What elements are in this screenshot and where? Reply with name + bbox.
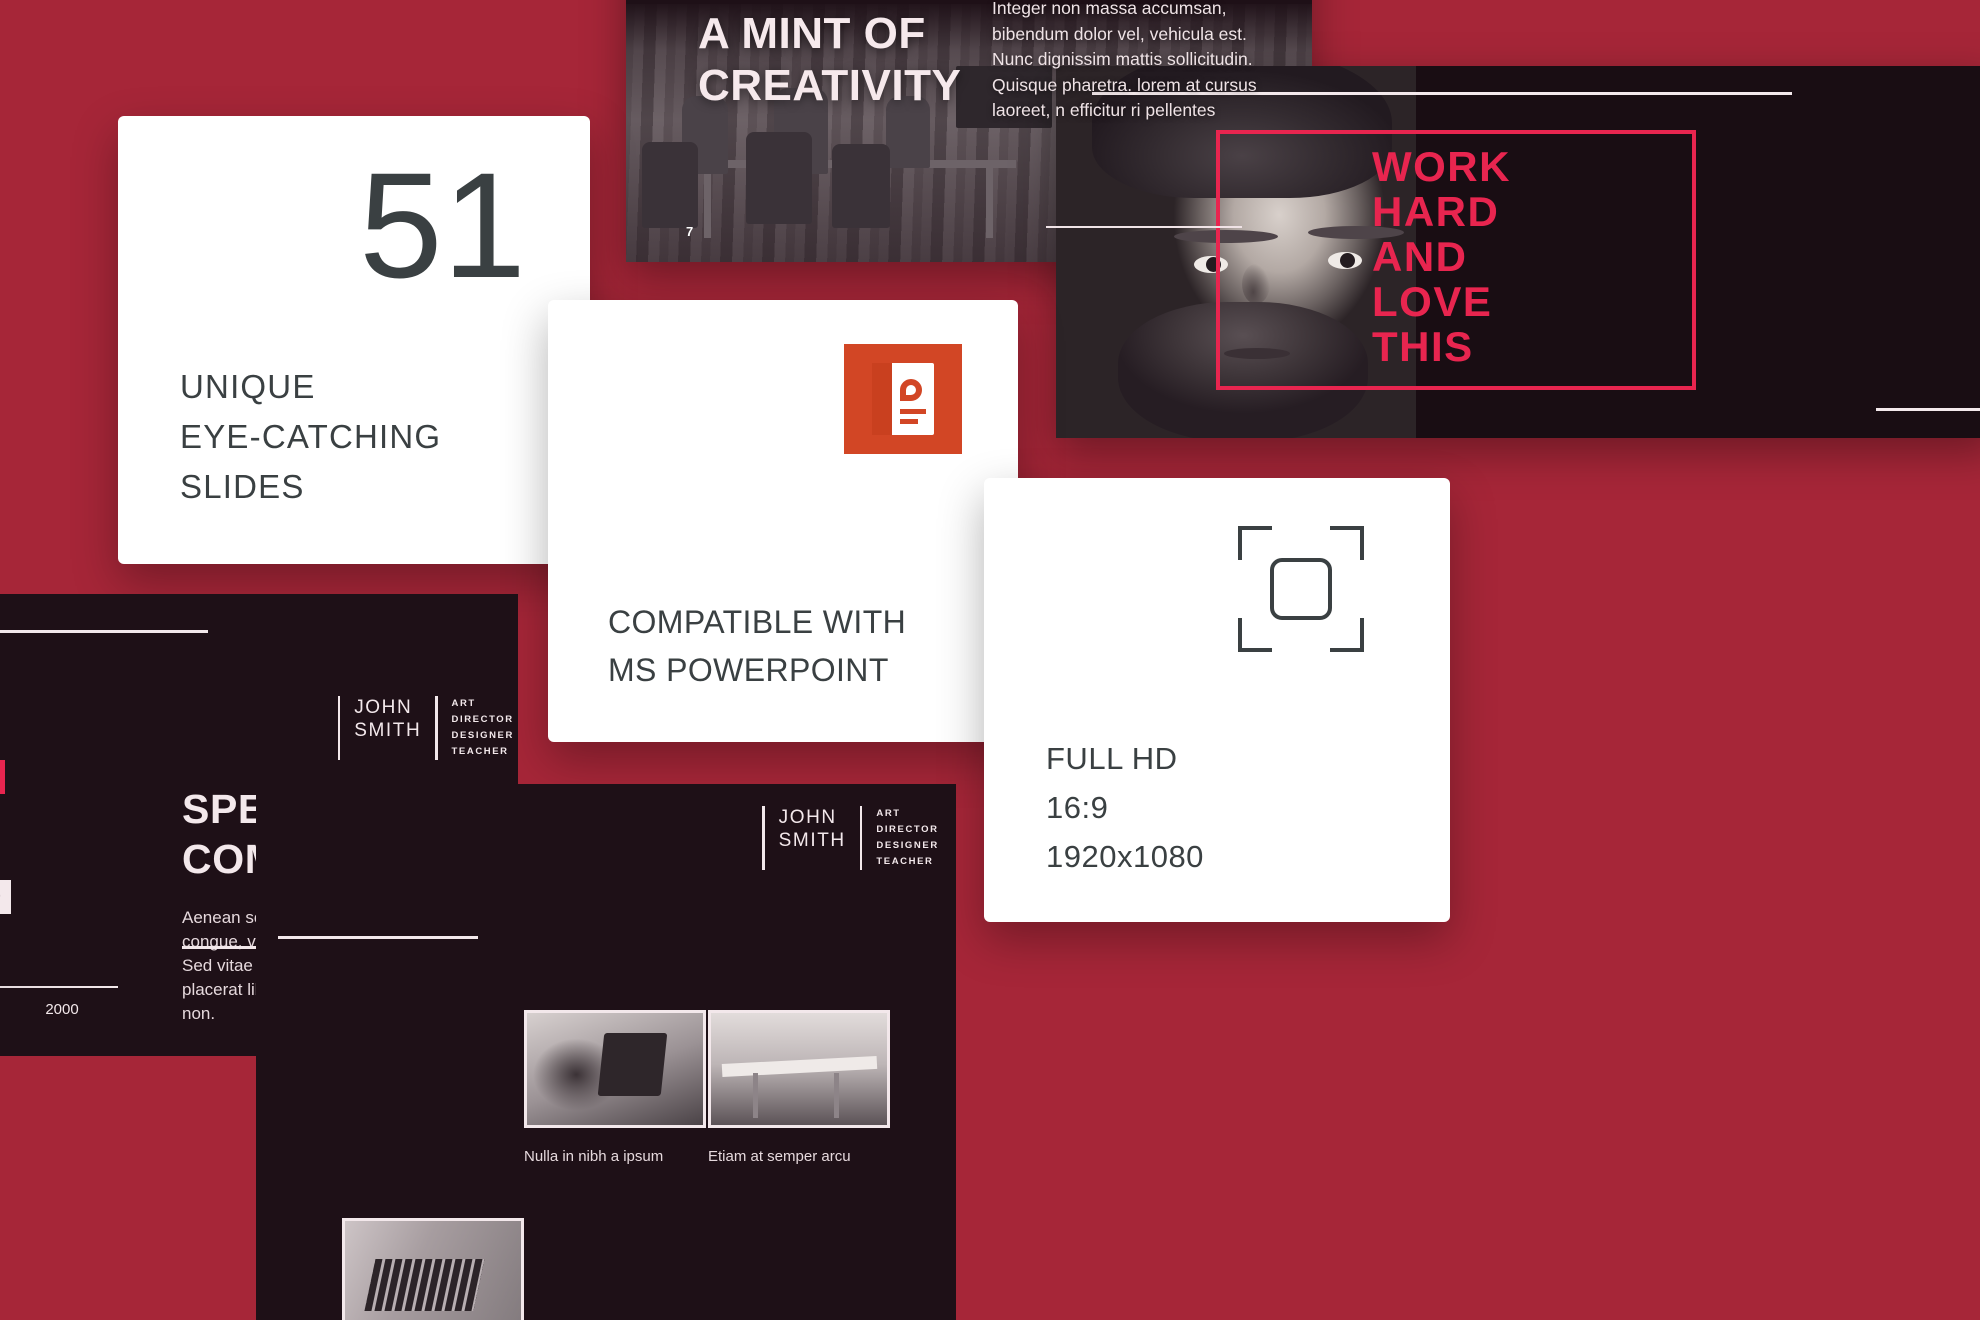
slides-count-caption: UNIQUE EYE-CATCHING SLIDES bbox=[180, 362, 441, 512]
mint-divider bbox=[1046, 226, 1242, 228]
mint-body-text: Integer non massa accumsan, bibendum dol… bbox=[992, 0, 1292, 124]
chart-bar: 800 bbox=[0, 760, 5, 794]
byline-john-smith: JOHN SMITH ART DIRECTOR DESIGNER TEACHER bbox=[338, 696, 518, 760]
work-headline: WORK HARD AND LOVE THIS bbox=[1372, 144, 1511, 369]
slides-count-number: 51 bbox=[359, 140, 526, 310]
byline-name-grid: JOHN SMITH bbox=[779, 806, 846, 870]
powerpoint-caption: COMPATIBLE WITH MS POWERPOINT bbox=[608, 598, 906, 694]
grid-caption-3: Etiam at semper arcu bbox=[708, 1146, 890, 1167]
full-hd-caption: FULL HD 16:9 1920x1080 bbox=[1046, 734, 1204, 881]
work-right-rule bbox=[1876, 408, 1980, 411]
mint-page-number: 7 bbox=[686, 224, 693, 239]
byline-john-smith-grid: JOHN SMITH ART DIRECTOR DESIGNER TEACHER bbox=[762, 806, 956, 870]
slide-full-hd[interactable]: FULL HD 16:9 1920x1080 bbox=[984, 478, 1450, 922]
chart-x-axis bbox=[0, 986, 118, 988]
chart-bar: 800 bbox=[0, 880, 11, 914]
crop-frame-icon bbox=[1238, 526, 1364, 652]
slide-powerpoint-compatible[interactable]: COMPATIBLE WITH MS POWERPOINT bbox=[548, 300, 1018, 742]
desk-laptop-photo bbox=[524, 1010, 706, 1128]
slide-image-grid[interactable]: JOHN SMITH ART DIRECTOR DESIGNER TEACHER… bbox=[256, 784, 956, 1320]
byline-role: ART DIRECTOR DESIGNER TEACHER bbox=[452, 696, 518, 760]
laptop-keyboard-photo bbox=[342, 1218, 524, 1320]
powerpoint-icon bbox=[844, 344, 962, 454]
grid-cell-2[interactable]: Nulla in nibh a ipsum bbox=[524, 1010, 706, 1167]
mint-title: A MINT OF CREATIVITY bbox=[698, 8, 961, 112]
meeting-table-photo bbox=[708, 1010, 890, 1128]
grid-cell-3[interactable]: Etiam at semper arcu bbox=[708, 1010, 890, 1167]
chart-bar-label: 800 bbox=[0, 885, 1, 909]
chart-x-tick: 2000 bbox=[45, 1001, 78, 1018]
grid-caption-2: Nulla in nibh a ipsum bbox=[524, 1146, 706, 1167]
spend-top-rule bbox=[0, 630, 208, 633]
grid-cell-1[interactable]: Vivamus cursus libero bbox=[342, 1218, 524, 1320]
presentation-mockup-canvas: A MINT OF CREATIVITY Integer non massa a… bbox=[0, 0, 1980, 1320]
spending-bar-chart: 8008000100015002000 bbox=[0, 712, 118, 1022]
slide-unique-slides-count[interactable]: 51 UNIQUE EYE-CATCHING SLIDES bbox=[118, 116, 590, 564]
byline-name: JOHN SMITH bbox=[354, 696, 421, 760]
grid-divider bbox=[278, 936, 478, 939]
byline-role-grid: ART DIRECTOR DESIGNER TEACHER bbox=[876, 806, 956, 870]
